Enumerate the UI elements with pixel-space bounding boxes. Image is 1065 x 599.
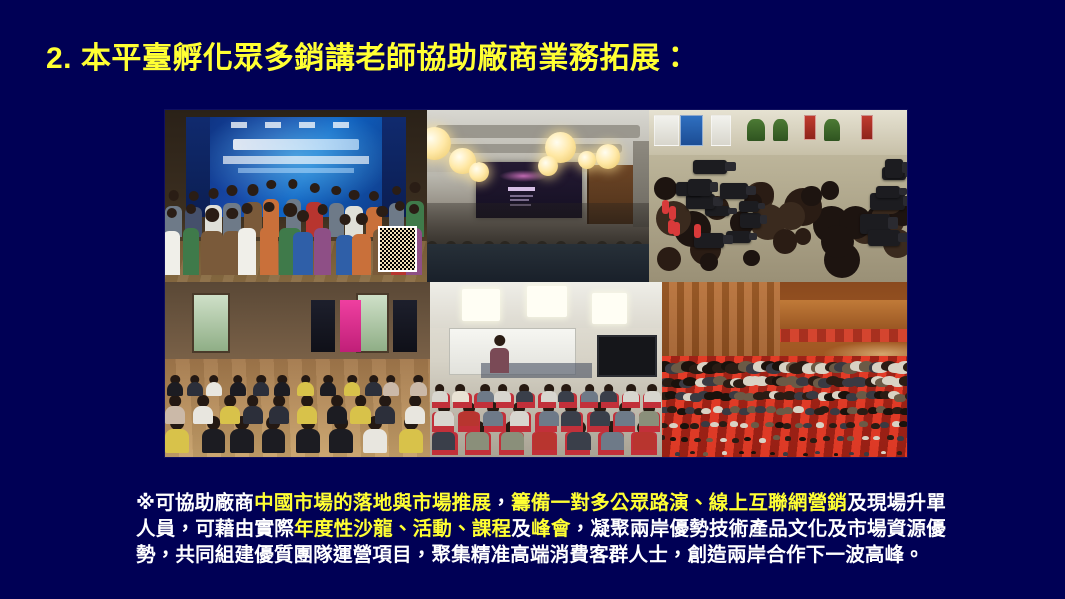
- presentation-slide: 2. 本平臺孵化眾多銷講老師協助廠商業務拓展：: [0, 0, 1065, 599]
- caption-highlight: 年度性沙龍、活動、課程: [294, 518, 511, 540]
- photo-classroom-training: [430, 282, 662, 457]
- caption-highlight: 中國市場的落地與市場推展: [254, 492, 491, 514]
- caption-highlight: 峰會: [531, 518, 571, 540]
- caption-text: ※可協助廠商: [136, 492, 254, 514]
- collage-row-bottom: [165, 282, 907, 457]
- caption-text: 及: [511, 518, 531, 540]
- photo-large-auditorium: [662, 282, 907, 457]
- photo-floor-workshop: [165, 282, 430, 457]
- photo-press-conference: [649, 110, 907, 282]
- caption-highlight: 籌備一對多公眾路演、線上互聯網營銷: [511, 492, 847, 514]
- photo-group-conference: [165, 110, 427, 282]
- photo-lecture-hall: [427, 110, 649, 282]
- caption-paragraph: ※可協助廠商中國市場的落地與市場推展，籌備一對多公眾路演、線上互聯網營銷及現場升…: [136, 490, 946, 568]
- caption-text: ，: [491, 492, 511, 514]
- photo-collage: [165, 110, 907, 457]
- collage-row-top: [165, 110, 907, 282]
- page-title: 2. 本平臺孵化眾多銷講老師協助廠商業務拓展：: [46, 41, 691, 77]
